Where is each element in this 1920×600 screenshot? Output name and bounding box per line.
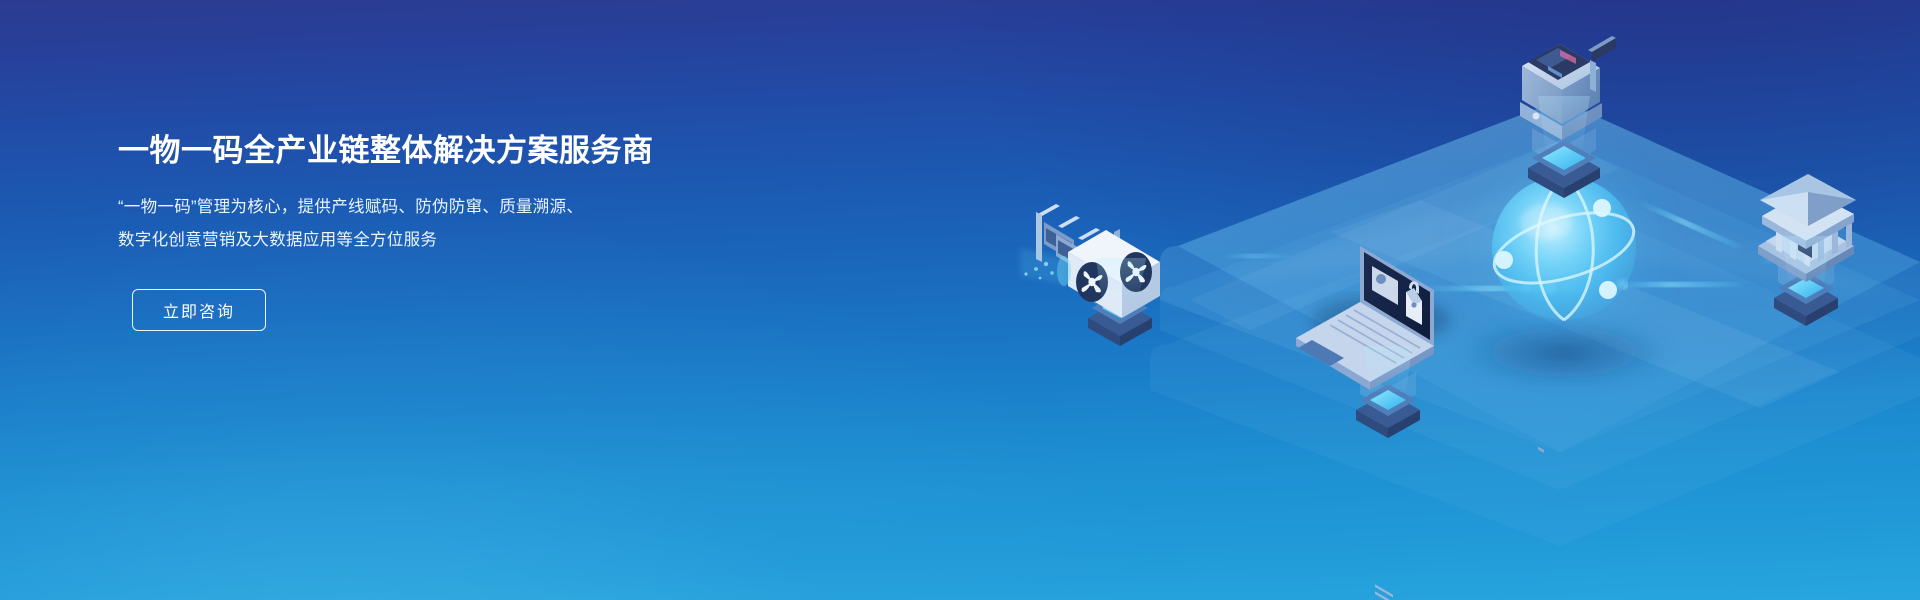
airflow-cone [1020,248,1071,286]
hover-pad-bank [1774,272,1838,326]
light-fans [1190,180,1910,300]
subtitle-line-2: 数字化创意营销及大数据应用等全方位服务 [118,224,738,257]
glass-platform [1150,100,1920,546]
padlock-icon [1406,281,1422,325]
isometric-illustration [860,0,1920,600]
laptop-security-icon [1296,246,1452,600]
bank-building-icon [1758,174,1856,600]
hero-banner: 一物一码全产业链整体解决方案服务商 “一物一码”管理为核心，提供产线赋码、防伪防… [0,0,1920,600]
consult-now-button[interactable]: 立即咨询 [132,289,266,331]
hover-pad-server [1088,292,1152,346]
hover-pad-laptop [1356,384,1420,438]
fan-blades [1076,252,1152,302]
keypad-keys [1536,48,1576,78]
data-link-beam [1220,200,1832,294]
page-title: 一物一码全产业链整体解决方案服务商 [118,132,738,171]
pos-terminal-icon [1520,36,1616,453]
upward-beams [1096,96,1830,392]
central-network-sphere [1456,144,1672,388]
hero-copy: 一物一码全产业链整体解决方案服务商 “一物一码”管理为核心，提供产线赋码、防伪防… [118,132,738,331]
hero-subtitle: “一物一码”管理为核心，提供产线赋码、防伪防窜、质量溯源、 数字化创意营销及大数… [118,191,738,257]
screen-profile-card [1372,266,1398,600]
hover-pad-pos [1528,140,1600,198]
subtitle-line-1: “一物一码”管理为核心，提供产线赋码、防伪防窜、质量溯源、 [118,191,738,224]
server-rack-icon [1020,204,1160,346]
